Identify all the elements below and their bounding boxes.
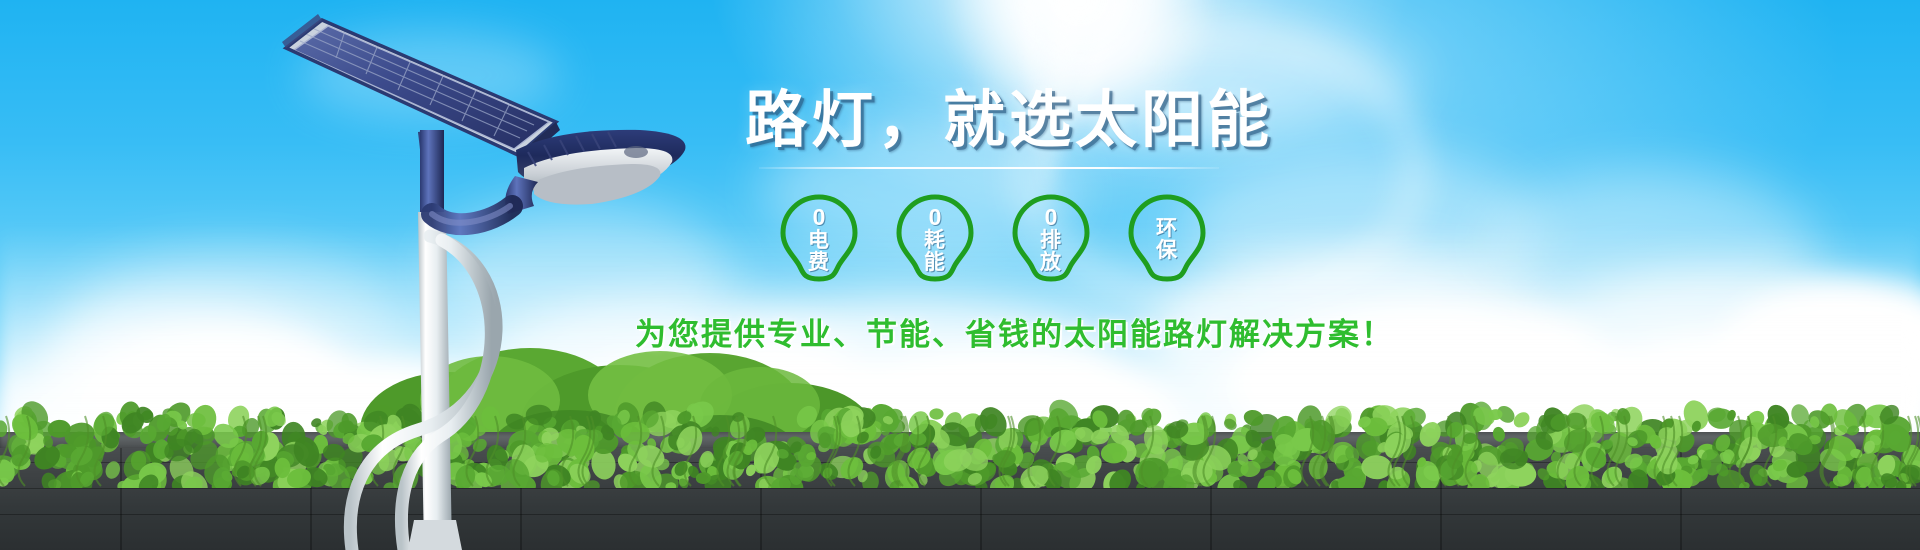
banner-text-block: 路灯，就选太阳能 0 电 费 0 耗 能 [745, 88, 1445, 354]
badge-label-line1: 排 [1040, 230, 1062, 251]
banner-tagline: 为您提供专业、节能、省钱的太阳能路灯解决方案！ [635, 309, 1445, 354]
badge-label-line2: 能 [924, 252, 946, 273]
badge-eco-friendly[interactable]: 环 保 [1123, 191, 1211, 287]
badge-zero-value: 0 [813, 206, 826, 229]
badge-label-line1: 电 [808, 230, 830, 251]
badge-label-line2: 保 [1156, 240, 1178, 261]
title-divider [759, 167, 1219, 169]
badge-zero-value: 0 [929, 206, 942, 229]
feature-badge-list: 0 电 费 0 耗 能 0 [775, 191, 1445, 287]
badge-zero-consumption[interactable]: 0 耗 能 [891, 191, 979, 287]
solar-street-lamp-banner: 路灯，就选太阳能 0 电 费 0 耗 能 [0, 0, 1920, 550]
badge-label-line2: 放 [1040, 252, 1062, 273]
badge-zero-value: 0 [1045, 206, 1058, 229]
badge-zero-emission[interactable]: 0 排 放 [1007, 191, 1095, 287]
page-title: 路灯，就选太阳能 [745, 88, 1445, 153]
led-street-lamp-head-icon [505, 130, 685, 214]
ivy-vines [0, 396, 1920, 488]
badge-zero-electric-bill[interactable]: 0 电 费 [775, 191, 863, 287]
badge-label-line1: 耗 [924, 230, 946, 251]
panel-support-arm [418, 130, 444, 220]
badge-label-line1: 环 [1156, 218, 1178, 239]
badge-label-line2: 费 [808, 252, 830, 273]
solar-panel-icon [282, 14, 560, 163]
